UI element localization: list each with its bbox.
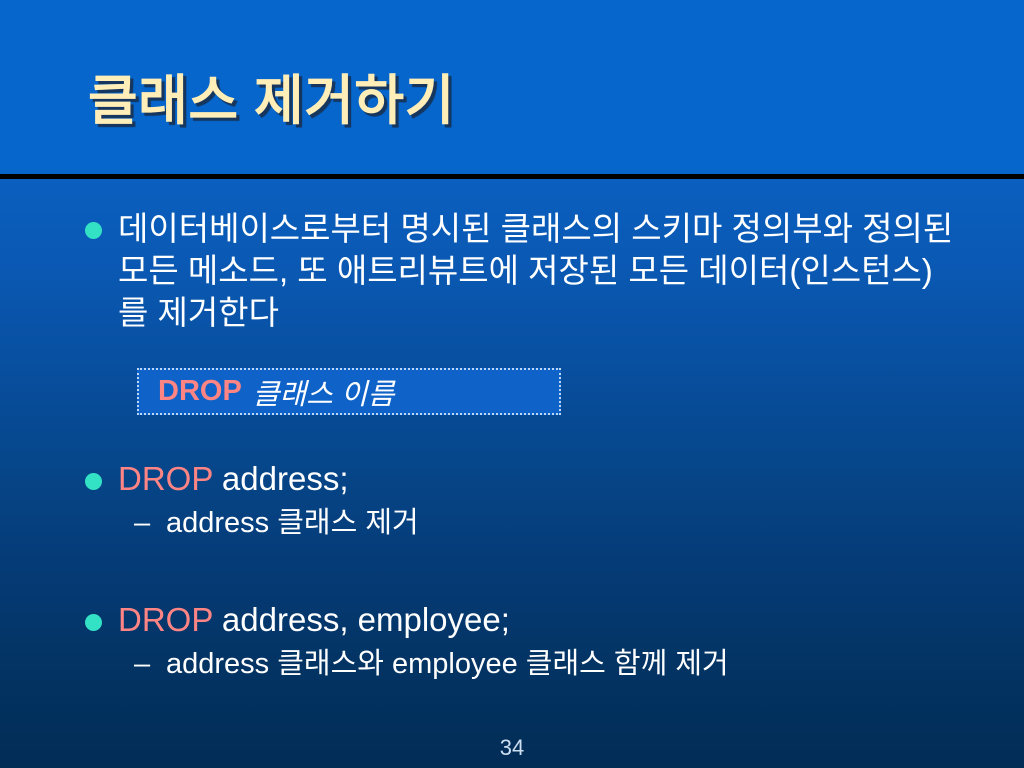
sub-bullet-example-one-text: address 클래스 제거 <box>166 505 419 541</box>
syntax-argument: 클래스 이름 <box>253 371 394 413</box>
en-dash-icon: – <box>134 646 158 682</box>
bullet-disc-icon <box>85 473 102 490</box>
bullet-item-example-two: DROP address, employee; <box>85 600 510 640</box>
sub-bullet-example-one: – address 클래스 제거 <box>134 505 419 541</box>
slide-content: 데이터베이스로부터 명시된 클래스의 스키마 정의부와 정의된 모든 메소드, … <box>0 179 1024 768</box>
page-title: 클래스 제거하기 <box>88 56 455 135</box>
sql-statement-rest: address, employee; <box>213 601 510 638</box>
presentation-slide: 클래스 제거하기 데이터베이스로부터 명시된 클래스의 스키마 정의부와 정의된… <box>0 0 1024 768</box>
bullet-description-text: 데이터베이스로부터 명시된 클래스의 스키마 정의부와 정의된 모든 메소드, … <box>118 208 955 334</box>
bullet-example-two-text: DROP address, employee; <box>118 600 510 640</box>
sql-statement-rest: address; <box>213 460 349 497</box>
bullet-disc-icon <box>85 614 102 631</box>
bullet-disc-icon <box>85 222 102 239</box>
bullet-example-one-text: DROP address; <box>118 459 349 499</box>
sub-bullet-example-two-text: address 클래스와 employee 클래스 함께 제거 <box>166 646 729 682</box>
syntax-box: DROP 클래스 이름 <box>137 368 561 415</box>
sql-keyword-drop: DROP <box>118 601 213 638</box>
sql-keyword-drop: DROP <box>118 460 213 497</box>
en-dash-icon: – <box>134 505 158 541</box>
sub-bullet-example-two: – address 클래스와 employee 클래스 함께 제거 <box>134 646 729 682</box>
syntax-keyword: DROP <box>158 375 242 408</box>
bullet-item-description: 데이터베이스로부터 명시된 클래스의 스키마 정의부와 정의된 모든 메소드, … <box>85 208 955 334</box>
slide-page-number: 34 <box>0 735 1024 761</box>
bullet-item-example-one: DROP address; <box>85 459 349 499</box>
